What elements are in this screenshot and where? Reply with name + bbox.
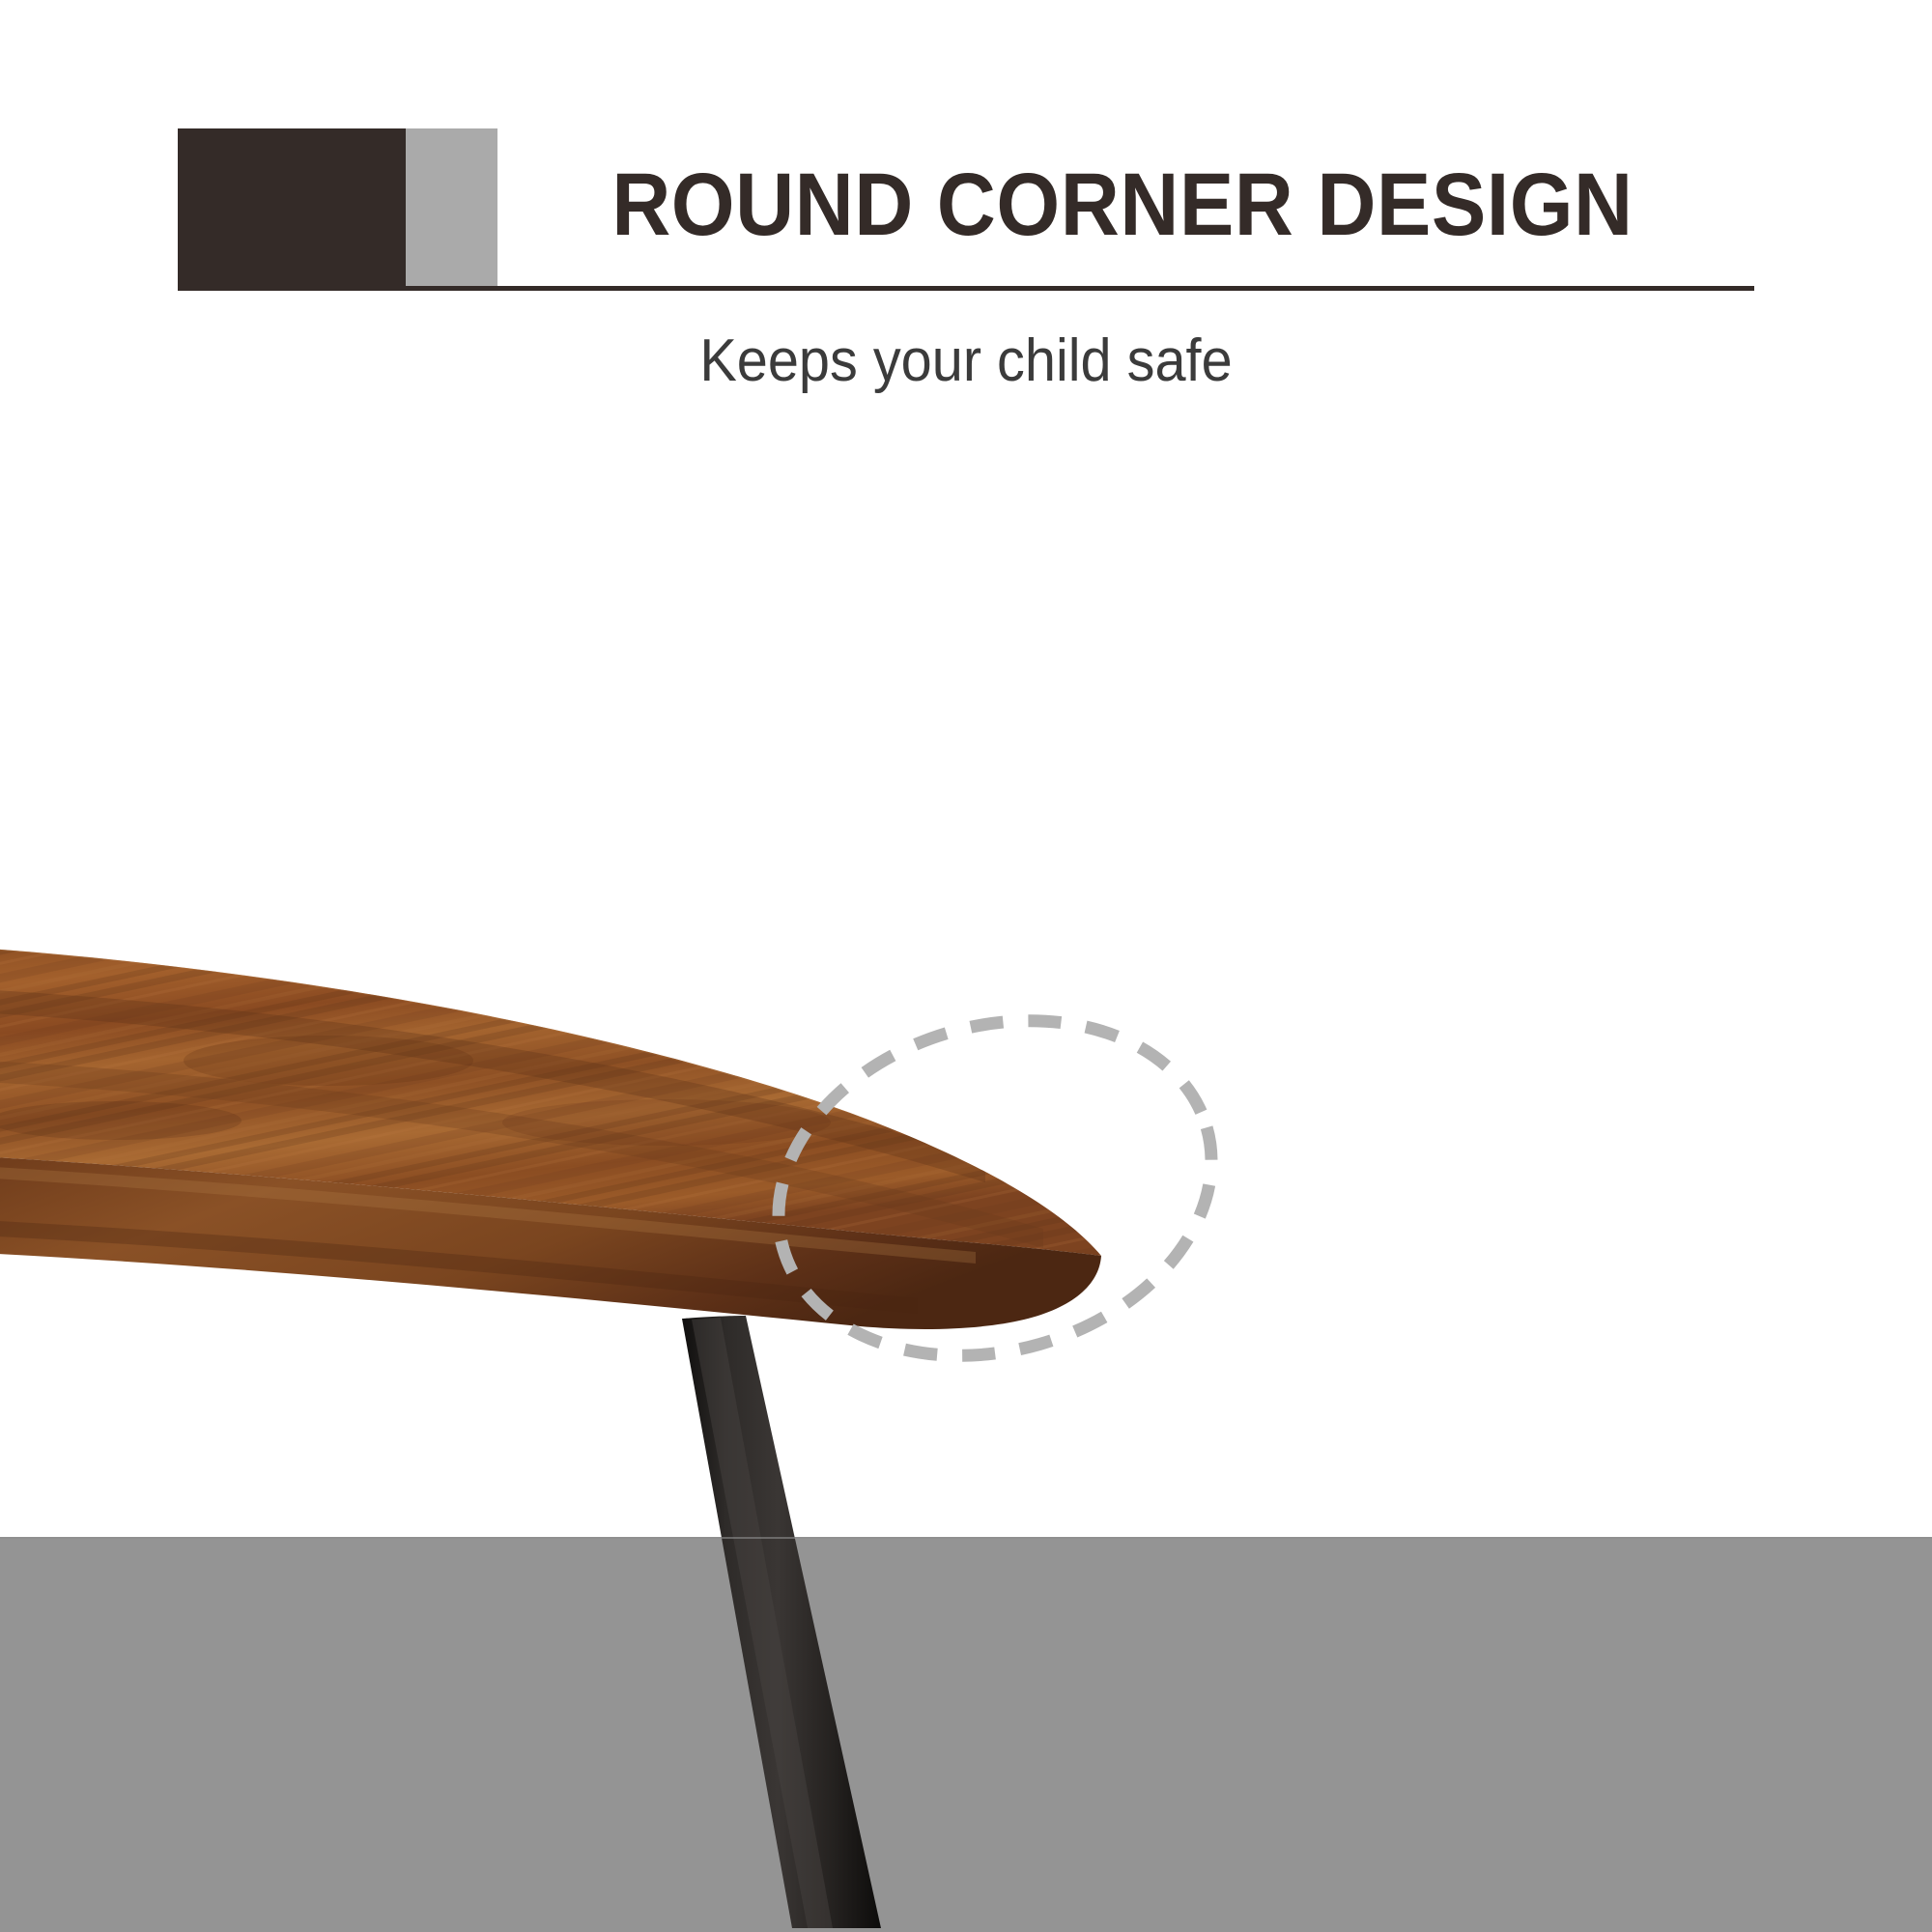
product-feature-image: ROUND CORNER DESIGN Keeps your child saf…: [0, 0, 1932, 1932]
table-leg: [682, 1316, 881, 1928]
page-title: ROUND CORNER DESIGN: [611, 137, 1350, 272]
header-divider-rule: [178, 286, 1754, 291]
header-banner: ROUND CORNER DESIGN Keeps your child saf…: [0, 0, 1932, 425]
floor-horizon-line: [0, 1537, 1932, 1539]
accent-swatch-gray: [406, 128, 497, 286]
page-subtitle: Keeps your child safe: [233, 324, 1699, 399]
accent-swatch-dark: [178, 128, 406, 286]
